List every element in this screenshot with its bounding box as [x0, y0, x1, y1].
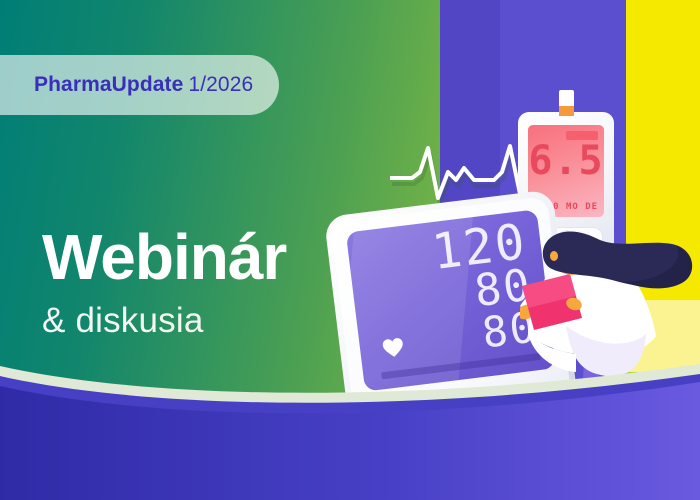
- headline-block: Webinár & diskusia: [42, 225, 286, 338]
- wave-divider-icon: [0, 360, 700, 500]
- glucose-reading-value: 6.5: [528, 141, 604, 181]
- brand-label: PharmaUpdate: [34, 73, 183, 96]
- heart-icon: [381, 337, 405, 360]
- test-strip-band: [559, 106, 574, 116]
- page-subtitle: & diskusia: [42, 303, 286, 338]
- webinar-banner: 6.5 0020 MO DE 120 80 80: [0, 0, 700, 500]
- page-title: Webinár: [42, 225, 286, 289]
- issue-badge: PharmaUpdate1/2026: [0, 55, 279, 115]
- issue-badge-text: PharmaUpdate1/2026: [34, 73, 253, 97]
- issue-label: 1/2026: [188, 73, 253, 96]
